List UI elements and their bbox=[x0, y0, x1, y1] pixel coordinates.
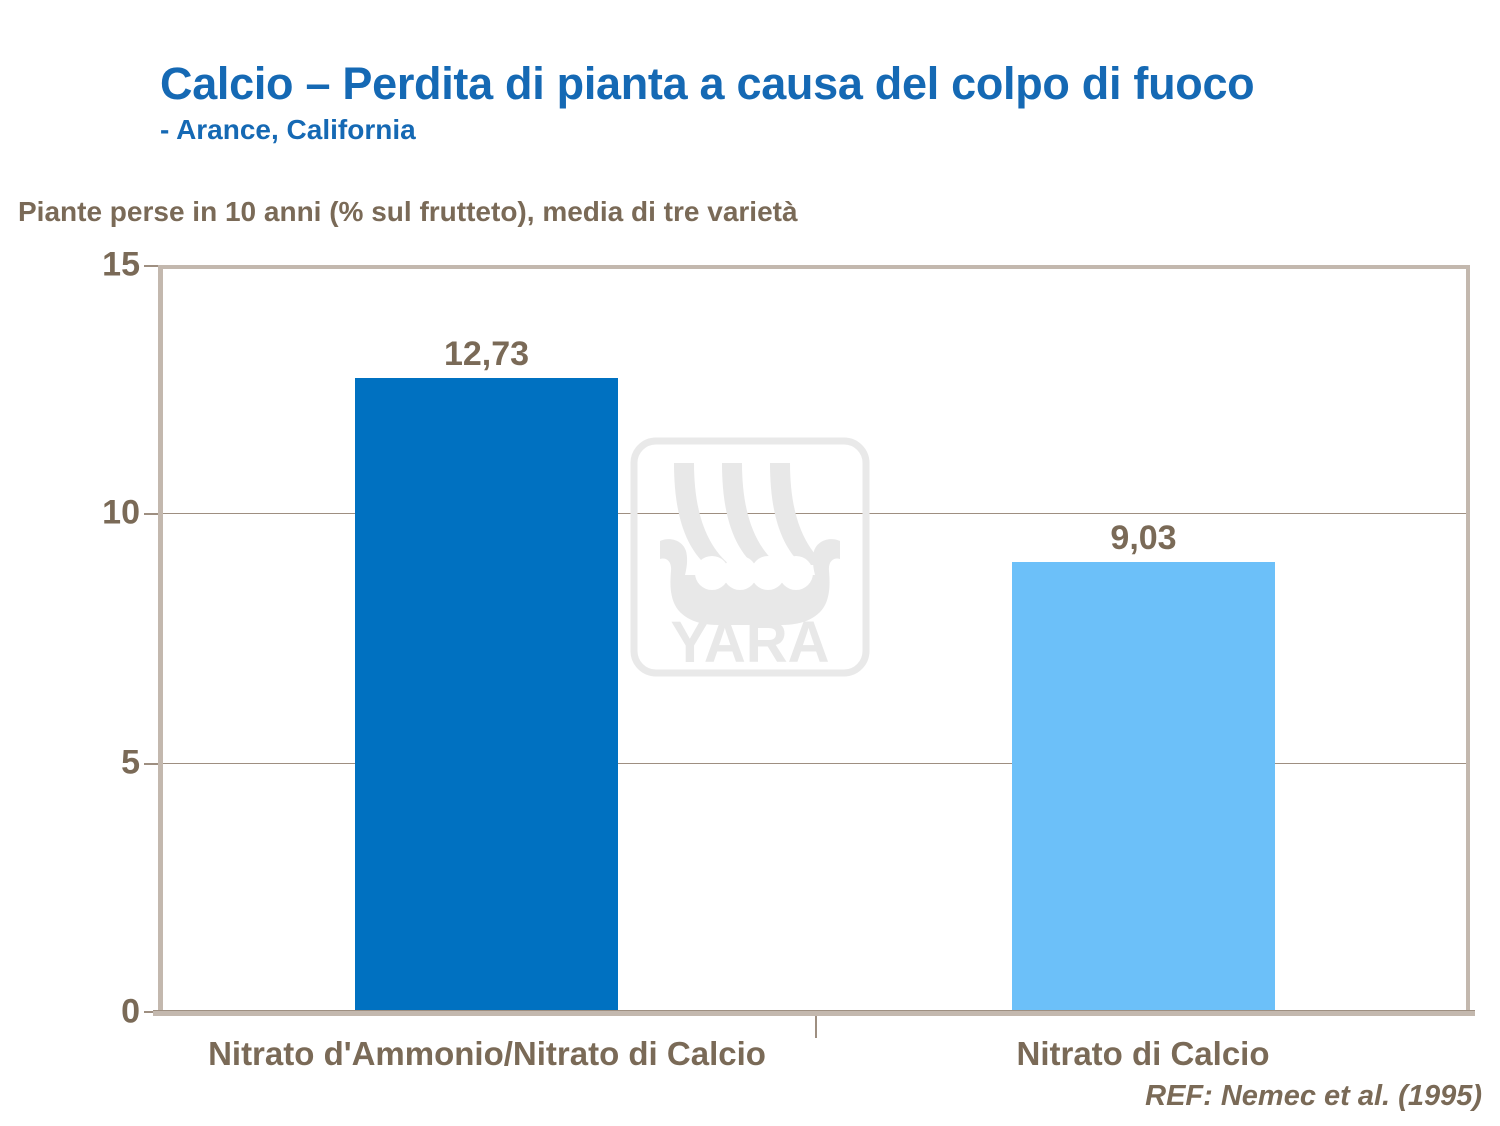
y-tick-label-15: 15 bbox=[30, 246, 140, 285]
title-block: Calcio – Perdita di pianta a causa del c… bbox=[160, 60, 1460, 145]
bar-nitrato-dammonio-nitrato-di-calcio[interactable] bbox=[355, 378, 618, 1012]
x-axis-line bbox=[153, 1010, 1475, 1016]
chart-canvas: Calcio – Perdita di pianta a causa del c… bbox=[0, 0, 1500, 1126]
y-tick-mark-15 bbox=[144, 265, 158, 267]
y-tick-label-0: 0 bbox=[30, 993, 140, 1032]
y-tick-mark-10 bbox=[144, 513, 158, 515]
bar-value-label-2: 9,03 bbox=[1012, 519, 1275, 558]
y-tick-mark-5 bbox=[144, 763, 158, 765]
y-axis-labels: 15 10 5 0 bbox=[20, 0, 140, 1126]
y-tick-label-10: 10 bbox=[30, 494, 140, 533]
page-title: Calcio – Perdita di pianta a causa del c… bbox=[160, 60, 1460, 109]
page-subtitle: - Arance, California bbox=[160, 115, 1460, 146]
x-category-label-1: Nitrato d'Ammonio/Nitrato di Calcio bbox=[158, 1035, 816, 1073]
x-category-label-2: Nitrato di Calcio bbox=[816, 1035, 1470, 1073]
y-tick-label-5: 5 bbox=[30, 744, 140, 783]
reference-note: REF: Nemec et al. (1995) bbox=[1145, 1080, 1482, 1113]
bar-value-label-1: 12,73 bbox=[355, 335, 618, 374]
bar-nitrato-di-calcio[interactable] bbox=[1012, 562, 1275, 1012]
